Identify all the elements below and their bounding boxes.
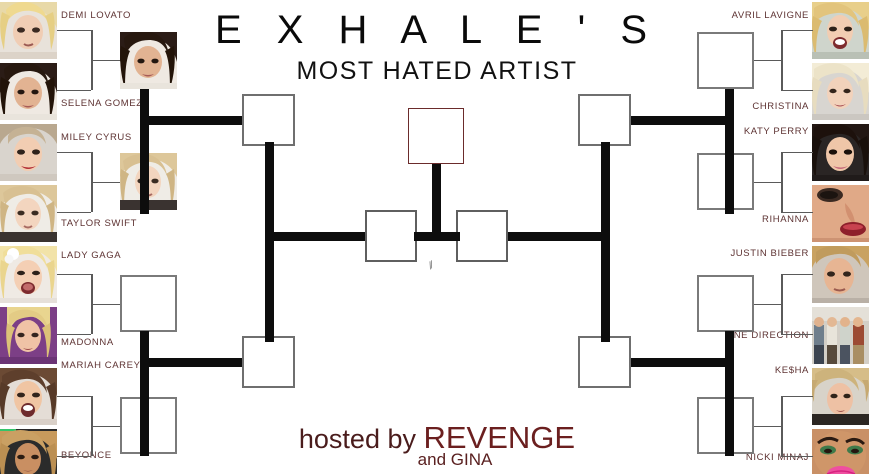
r1-stub-right-2a [781,152,813,153]
photo-one-direction [812,307,869,364]
r3-out-right-upper [626,116,734,125]
competitor-label-justin-bieber: JUSTIN BIEBER [730,248,809,259]
r1-stub-right-1a [781,30,813,31]
r2-slot-right-3[interactable] [697,275,754,332]
photo-justin-bieber [812,246,869,303]
footer: hosted by REVENGE and GINA [0,422,874,468]
competitor-label-lady-gaga: LADY GAGA [61,250,121,261]
r1-out-left-2 [91,182,121,183]
r1-out-left-3 [91,304,121,305]
photo-rihanna [812,185,869,242]
r1-stub-right-4a [781,396,813,397]
photo-lady-gaga [0,246,57,303]
r2-slot-left-1-winner-selena-gomez[interactable] [120,32,177,89]
photo-madonna [0,307,57,364]
photo-mariah-carey [0,368,57,425]
r3-connector-left-upper [140,89,149,214]
r4-out-left [265,232,370,241]
r2-slot-left-3[interactable] [120,275,177,332]
competitor-label-taylor-swift: TAYLOR SWIFT [61,218,137,229]
r3-slot-right-lower[interactable] [578,336,631,388]
r3-out-right-lower [626,358,734,367]
footer-cohost-name: and GINA [36,451,874,468]
photo-demi-lovato [0,2,57,59]
competitor-label-christina: CHRISTINA [752,101,809,112]
r3-slot-right-upper[interactable] [578,94,631,146]
r2-slot-right-1[interactable] [697,32,754,89]
r3-out-left-upper [140,116,248,125]
champion-slot[interactable] [408,108,464,164]
r1-out-right-1 [752,60,782,61]
r3-out-left-lower [140,358,248,367]
r1-stub-left-1a [57,30,91,31]
pencil-mark: ⁄⁄ [427,260,436,271]
r3-slot-left-upper[interactable] [242,94,295,146]
photo-christina [812,63,869,120]
r1-stub-left-1b [57,90,91,91]
r1-stub-left-3a [57,274,91,275]
r1-stub-right-3b [781,334,813,335]
r1-stub-left-4a [57,396,91,397]
competitor-label-selena-gomez: SELENA GOMEZ [61,98,143,109]
r1-stub-left-2a [57,152,91,153]
competitor-label-mariah-carey: MARIAH CAREY [61,360,141,371]
r1-stub-left-3b [57,334,91,335]
r1-stub-right-2b [781,212,813,213]
r4-connector-right [601,142,610,342]
bracket-poster: E X H A L E ' S MOST HATED ARTIST [0,0,874,474]
competitor-label-madonna: MADONNA [61,337,114,348]
competitor-label-demi-lovato: DEMI LOVATO [61,10,131,21]
r1-stub-right-3a [781,274,813,275]
r4-connector-left [265,142,274,342]
competitor-label-avril-lavigne: AVRIL LAVIGNE [732,10,809,21]
photo-miley-cyrus [0,124,57,181]
photo-kesha [812,368,869,425]
photo-katy-perry [812,124,869,181]
footer-host-line: hosted by REVENGE [0,422,874,453]
r4-slot-left-finalist[interactable] [365,210,417,262]
photo-selena-gomez [0,63,57,120]
r4-out-right [500,232,605,241]
r1-stub-left-2b [57,212,91,213]
r1-out-right-2 [752,182,782,183]
r4-slot-right-finalist[interactable] [456,210,508,262]
photo-avril-lavigne [812,2,869,59]
r1-stub-right-1b [781,90,813,91]
photo-taylor-swift [0,185,57,242]
footer-hosted-by: hosted by [299,424,424,454]
competitor-label-miley-cyrus: MILEY CYRUS [61,132,132,143]
competitor-label-rihanna: RIHANNA [762,214,809,225]
r1-out-right-3 [752,304,782,305]
champion-stem [432,163,441,235]
r3-connector-right-upper [725,89,734,214]
r3-slot-left-lower[interactable] [242,336,295,388]
competitor-label-kesha: KE$HA [775,365,809,376]
competitor-label-katy-perry: KATY PERRY [744,126,809,137]
r1-out-left-1 [91,60,121,61]
